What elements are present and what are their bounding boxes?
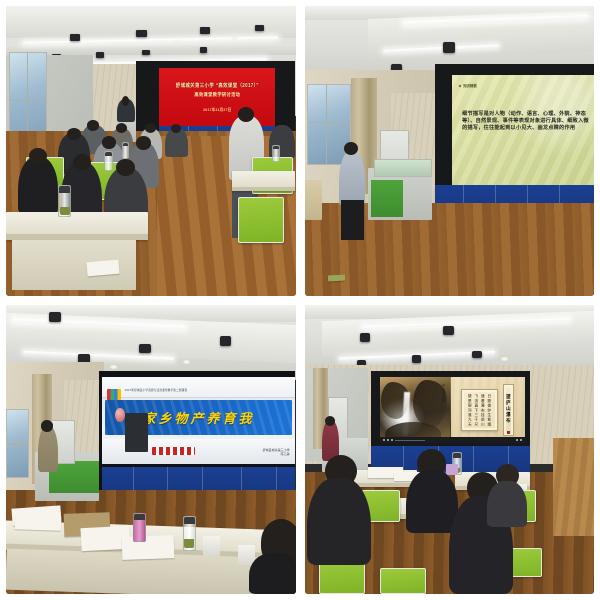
volume-icon[interactable] [516,439,518,441]
stop-icon[interactable] [391,439,393,441]
classroom-scene-title-slide: 2017年舒城县小学道德与法治课堂教学第二期课程 《道德与法治》人教版三年级上册… [6,305,296,595]
ceiling-spotlight-icon [412,355,422,363]
purple-tumbler [446,464,458,476]
attendee-head [136,136,150,149]
diamond-bullet-icon [459,85,462,88]
handout-paper [14,515,61,531]
slide-header-line-1: 2017年舒城县小学道德与法治课堂教学第二期课程 [125,388,187,392]
seated-attendee [307,478,371,565]
floor-side [553,438,594,536]
classroom-chair [380,568,426,594]
ceiling-spotlight-icon [360,333,370,342]
photo-panel-bottom-right[interactable]: 庐山瀑布图 日照香炉生紫烟 遥看瀑布挂前川 飞流直下三千尺 疑是银河落九天 望庐… [305,305,595,595]
handout-paper [86,259,119,276]
play-icon[interactable] [383,439,385,441]
signature-name: 陈乙静 [263,452,290,456]
ceiling-spotlight-icon [139,344,151,354]
student-desk [6,212,148,241]
attendee-head [145,123,156,133]
calligraphy-column: 疑是银河落九天 [468,394,472,427]
downlight-icon [501,357,508,361]
poem-title-scroll: 望庐山瀑布 [503,384,514,436]
projection-screen: 知识精要 细节描写是对人物（动作、语言、心理、外貌、神态等）、自然景观、事件等表… [452,75,594,185]
standing-attendee-head [238,107,254,121]
fullscreen-icon[interactable] [520,439,522,441]
water-bottle [183,516,196,551]
attendee-head [102,136,116,149]
seated-attendee [406,470,458,534]
ceiling-soffit-secondary [6,44,296,56]
lectern-green-panel [371,180,403,218]
ceiling-spotlight-icon [70,34,80,42]
ceiling-spotlight-icon [96,52,104,58]
ceiling-spotlight-icon [200,27,210,34]
floor-item [328,275,346,282]
projection-screen: 2017年舒城县小学道德与法治课堂教学第二期课程 《道德与法治》人教版三年级上册… [102,377,296,464]
side-cabinet [305,180,322,221]
slide-signature: 舒城县城关第三小学 陈乙静 [263,448,290,457]
ceiling-soffit [6,6,296,38]
globe-icon [115,408,125,422]
ceiling-spotlight-icon [220,336,231,345]
red-seal-icon [507,431,510,434]
photo-panel-top-right[interactable]: 知识精要 细节描写是对人物（动作、语言、心理、外貌、神态等）、自然景观、事件等表… [305,6,595,296]
event-banner: 舒城城关第三小学 “高效课堂（2017）” 高效课堂教学研讨活动 2017年11… [159,68,275,126]
presenter-head [325,416,335,426]
ceiling-spotlight-icon [255,25,264,31]
computer-icon [125,413,148,451]
water-bottle [58,185,71,217]
water-bottle [272,145,280,162]
slide-body-text: 细节描写是对人物（动作、语言、心理、外貌、神态等）、自然景观、事件等表现对象进行… [462,111,591,133]
attendee-head [73,154,91,170]
banner-line-2: 高效课堂教学研讨活动 [194,91,240,98]
slide-header: 知识精要 [459,83,477,88]
ceiling-spotlight-icon [472,351,481,359]
classroom-scene-audience: 舒城城关第三小学 “高效课堂（2017）” 高效课堂教学研讨活动 2017年11… [6,6,296,296]
ceiling-spotlight-icon [142,50,150,56]
calligraphy-area: 日照香炉生紫烟 遥看瀑布挂前川 飞流直下三千尺 疑是银河落九天 望庐山瀑布 [451,377,525,444]
ceiling-spotlight-icon [49,312,61,322]
ceiling-spotlight-icon [136,30,146,38]
attendee-head [87,120,99,130]
landscape-painting: 庐山瀑布图 [380,377,451,444]
player-toolbar[interactable] [380,437,525,443]
water-bottle [104,151,113,171]
water-bottle [122,142,130,159]
painting-inscription: 庐山瀑布图 [441,384,446,402]
calligraphy-column: 飞流直下三千尺 [474,394,478,427]
classroom-scene-lecture: 知识精要 细节描写是对人物（动作、语言、心理、外貌、神态等）、自然景观、事件等表… [305,6,595,296]
slide-title: 家乡物产养育我 [143,408,255,427]
film-strip-icon [152,447,195,455]
downlight-icon [174,40,179,43]
slide-header-text: 知识精要 [463,84,477,88]
ceiling-spotlight-icon [443,326,454,335]
presenter-skirt [341,200,364,241]
classroom-scene-painting: 庐山瀑布图 日照香炉生紫烟 遥看瀑布挂前川 飞流直下三千尺 疑是银河落九天 望庐… [305,305,595,595]
lectern-top [374,159,432,176]
calligraphy-panel: 日照香炉生紫烟 遥看瀑布挂前川 飞流直下三千尺 疑是银河落九天 [461,389,498,432]
projection-screen: 庐山瀑布图 日照香炉生紫烟 遥看瀑布挂前川 飞流直下三千尺 疑是银河落九天 望庐… [380,377,525,444]
calligraphy-column: 日照香炉生紫烟 [487,394,491,427]
attendee-head [29,148,46,164]
seated-attendee [249,553,295,594]
slide-footer: · · · [461,177,470,180]
seated-attendee [18,157,59,215]
calligraphy-column: 遥看瀑布挂前川 [481,394,485,427]
photo-collage: 舒城城关第三小学 “高效课堂（2017）” 高效课堂教学研讨活动 2017年11… [0,0,600,600]
window [6,409,29,478]
seated-attendee [487,481,528,527]
progress-track[interactable] [395,440,426,441]
attendee-head [116,123,127,133]
banner-date: 2017年11月27日 [203,106,231,112]
pause-icon[interactable] [387,439,389,441]
purple-tumbler [133,513,146,542]
classroom-chair [238,197,284,243]
banner-line-1: 舒城城关第三小学 “高效课堂（2017）” [176,82,259,89]
photo-panel-bottom-left[interactable]: 2017年舒城县小学道德与法治课堂教学第二期课程 《道德与法治》人教版三年级上册… [6,305,296,595]
poem-title: 望庐山瀑布 [505,394,511,424]
presenter [38,426,58,472]
presenter-head [122,96,130,106]
photo-panel-top-left[interactable]: 舒城城关第三小学 “高效课堂（2017）” 高效课堂教学研讨活动 2017年11… [6,6,296,296]
student-desk [232,171,296,191]
ceiling-spotlight-icon [200,47,208,53]
attendee-head [116,159,135,176]
ceiling-spotlight-icon [443,42,455,52]
presenter [339,151,365,206]
paper-cup [203,536,220,556]
downlight-icon [183,360,190,364]
handout-paper [121,535,174,560]
